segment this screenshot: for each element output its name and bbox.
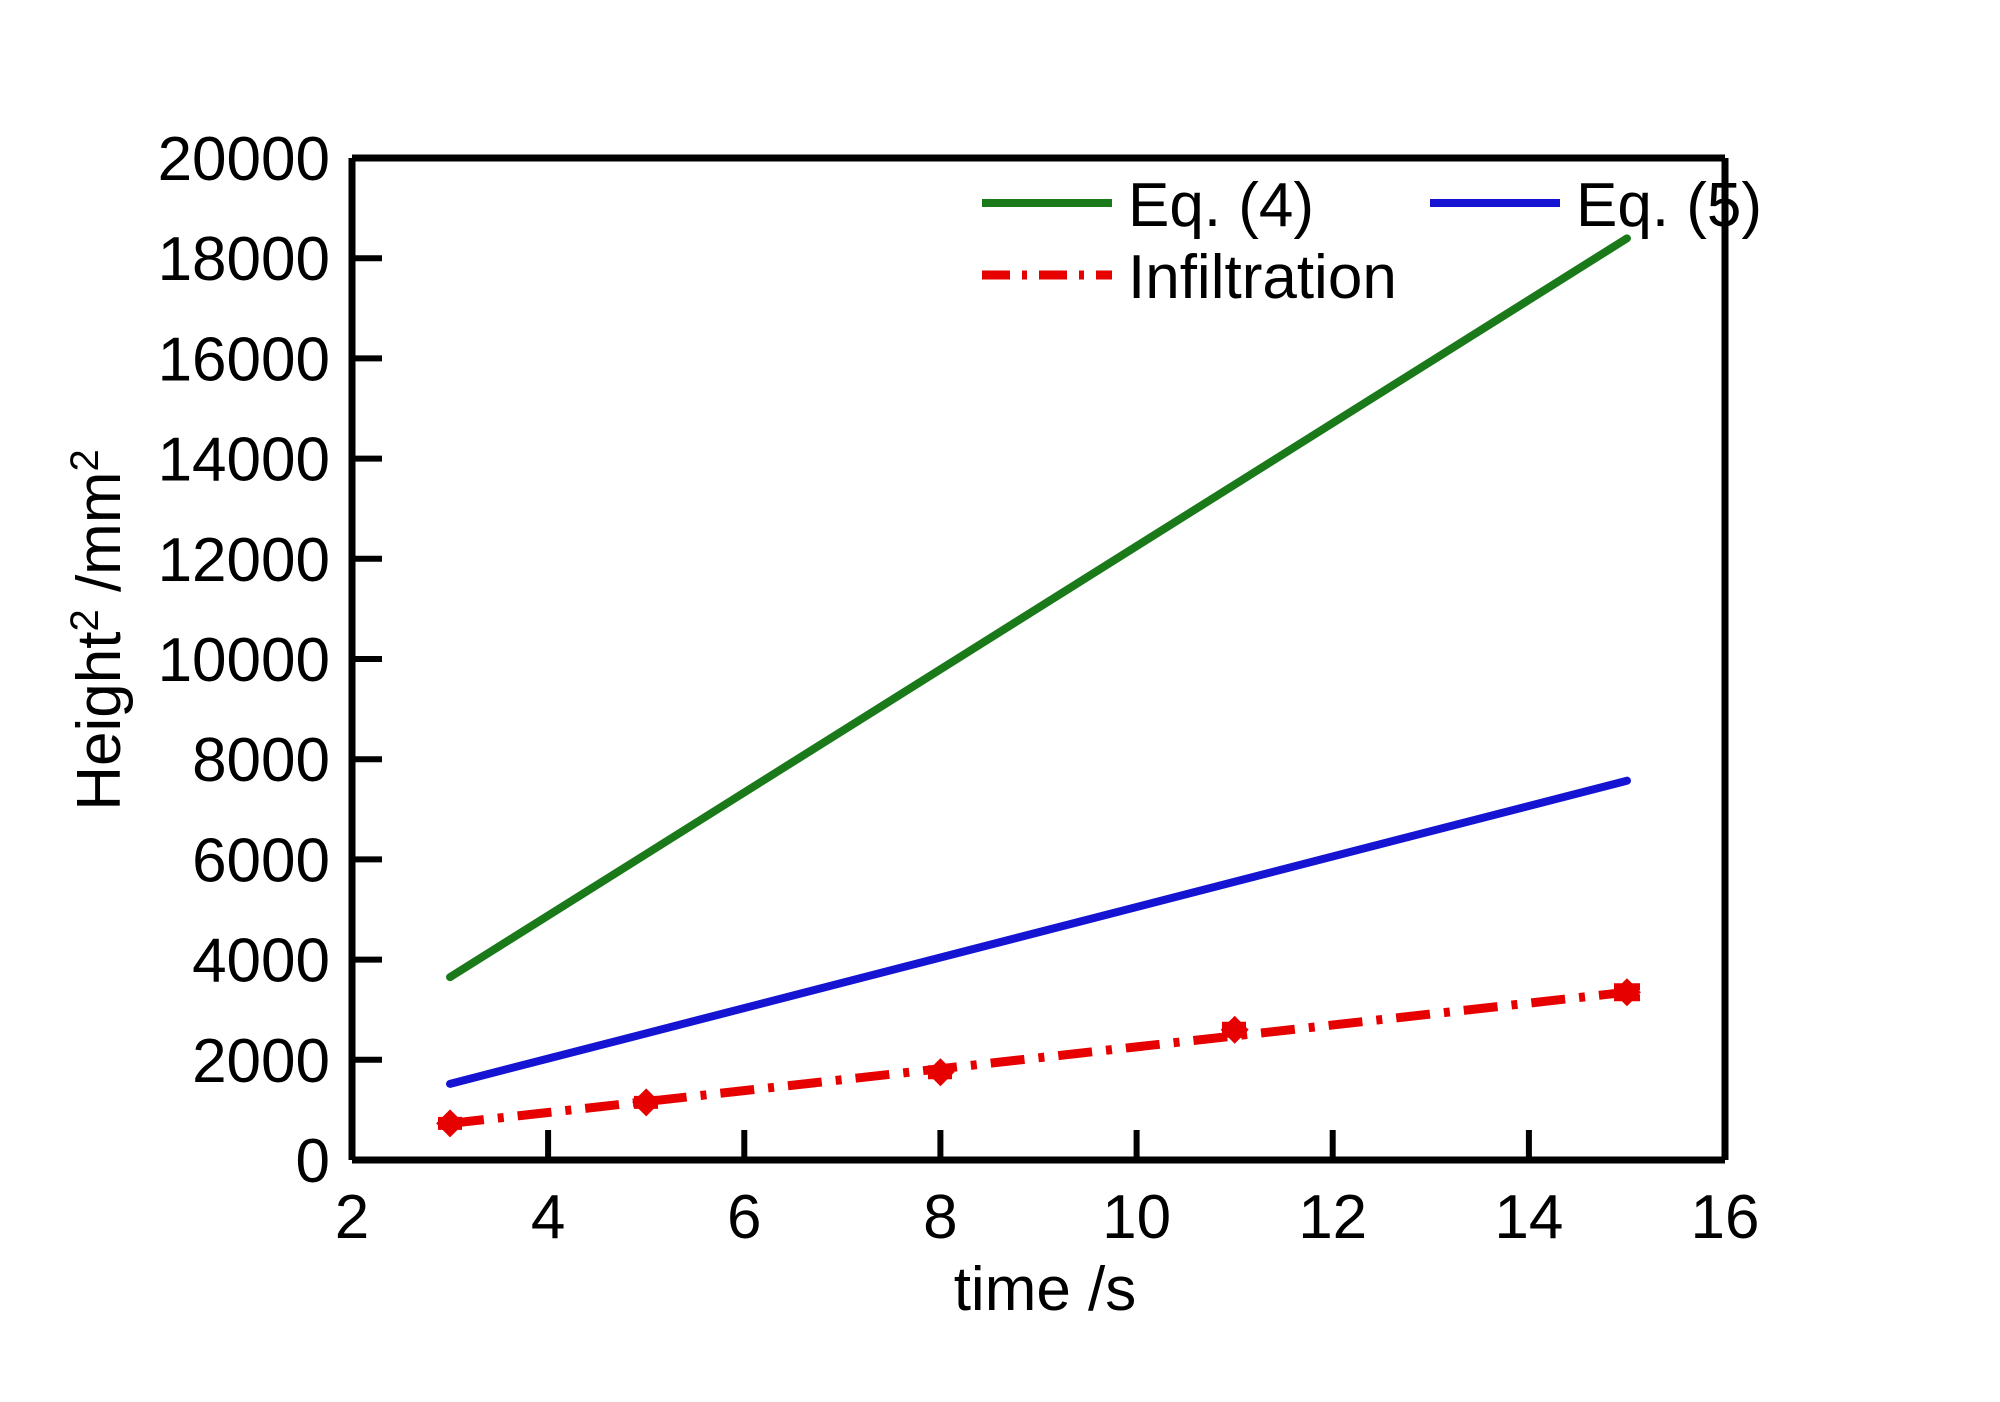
x-tick-label-8: 8 — [923, 1183, 957, 1252]
x-tick-label-14: 14 — [1494, 1183, 1563, 1252]
legend-label-eq4: Eq. (4) — [1128, 171, 1314, 240]
y-tick-label-12000: 12000 — [158, 526, 330, 595]
y-tick-label-2000: 2000 — [192, 1027, 330, 1096]
legend-label-eq5: Eq. (5) — [1576, 171, 1762, 240]
x-axis-title: time /s — [954, 1255, 1137, 1324]
y-axis-title-mid: /mm — [65, 472, 134, 610]
y-tick-label-14000: 14000 — [158, 426, 330, 495]
chart-svg: 0 2000 4000 6000 8000 10000 12000 14000 … — [0, 0, 2000, 1402]
chart-figure: 0 2000 4000 6000 8000 10000 12000 14000 … — [0, 0, 2000, 1402]
x-tick-label-16: 16 — [1691, 1183, 1760, 1252]
y-tick-label-0: 0 — [296, 1127, 330, 1196]
y-tick-label-18000: 18000 — [158, 225, 330, 294]
y-tick-label-4000: 4000 — [192, 927, 330, 996]
y-tick-label-16000: 16000 — [158, 325, 330, 394]
legend-label-infiltration: Infiltration — [1128, 243, 1397, 312]
y-axis-title-sup1: 2 — [63, 609, 107, 631]
y-tick-label-20000: 20000 — [158, 125, 330, 194]
x-tick-label-4: 4 — [531, 1183, 565, 1252]
y-tick-label-8000: 8000 — [192, 726, 330, 795]
y-axis-title-base: Height — [65, 632, 134, 811]
x-tick-label-10: 10 — [1102, 1183, 1171, 1252]
y-axis-title-sup2: 2 — [63, 449, 107, 471]
x-tick-label-12: 12 — [1298, 1183, 1367, 1252]
x-tick-label-6: 6 — [727, 1183, 761, 1252]
x-tick-label-2: 2 — [335, 1183, 369, 1252]
y-tick-label-10000: 10000 — [158, 626, 330, 695]
y-tick-label-6000: 6000 — [192, 826, 330, 895]
